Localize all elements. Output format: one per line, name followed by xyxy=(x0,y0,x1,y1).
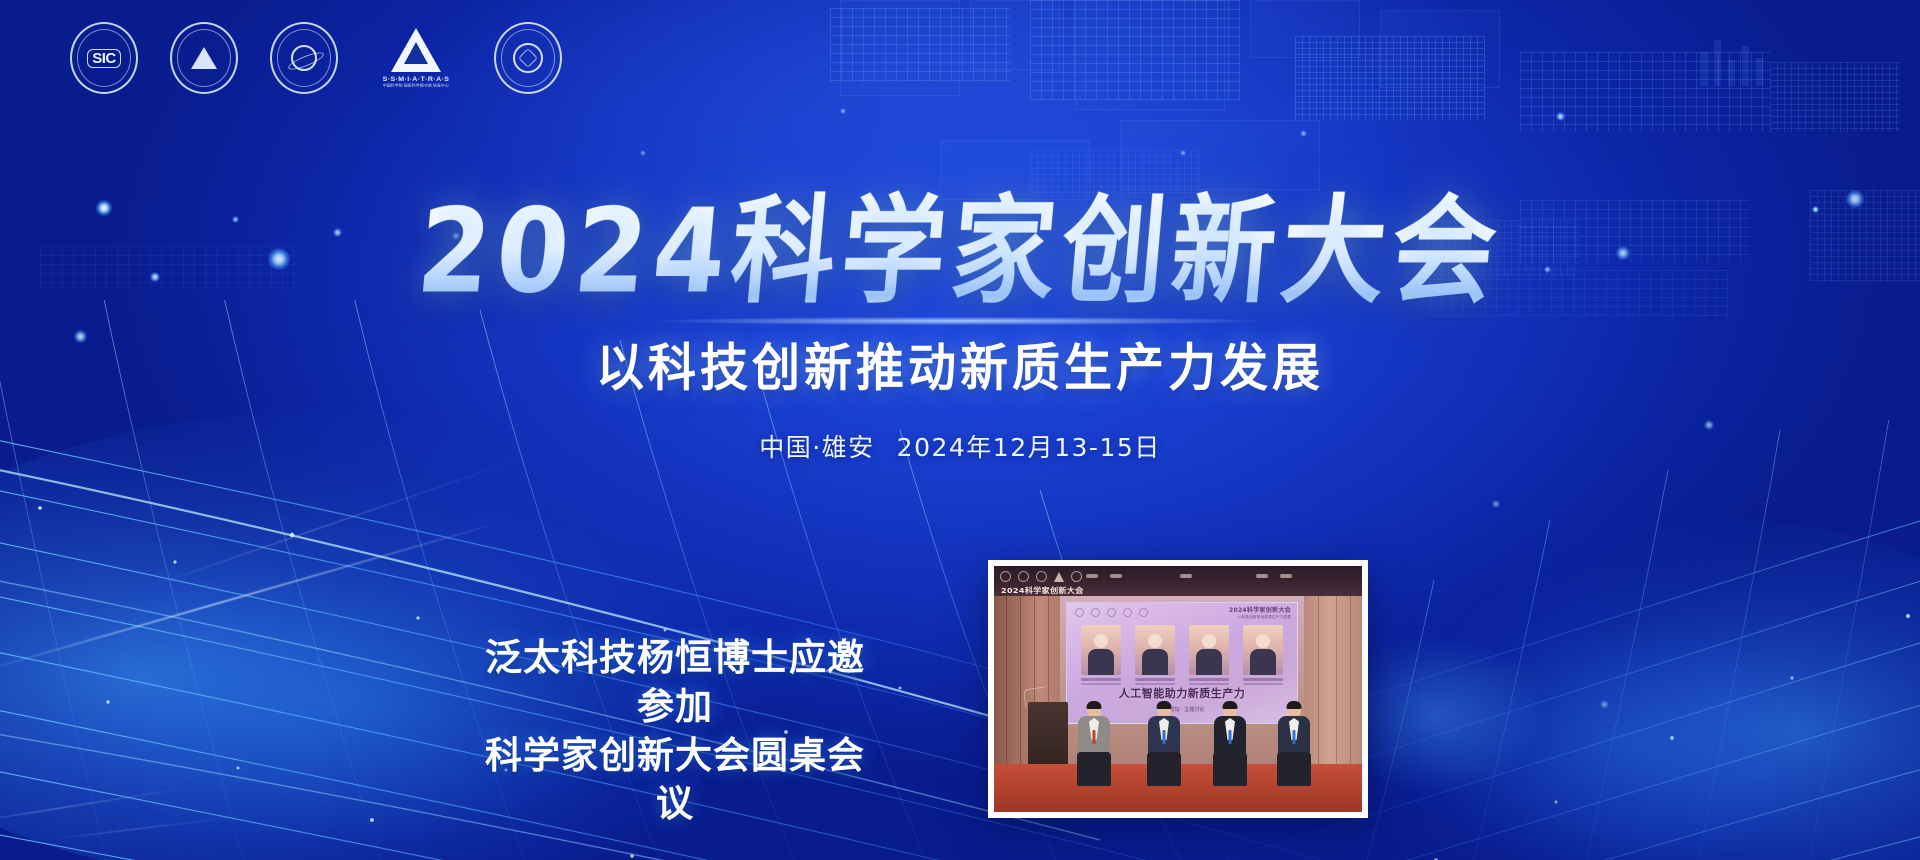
panelist-hair xyxy=(1157,701,1172,709)
event-photo-frame: 2024科学家创新大会 xyxy=(988,560,1368,818)
screen-title-main: 2024科学家创新大会 xyxy=(1229,607,1291,614)
seal-ring xyxy=(494,22,562,94)
panelist-portrait xyxy=(1135,625,1175,685)
event-caption: 泛太科技杨恒博士应邀参加 科学家创新大会圆桌会议 xyxy=(470,634,880,829)
photo-ceiling-light xyxy=(1110,574,1122,578)
portrait-name-bar xyxy=(1081,678,1121,681)
atom-seal-logo xyxy=(268,22,340,94)
seal-ring xyxy=(170,22,238,94)
panelist-badge xyxy=(1093,730,1096,744)
seal-core-text: SIC xyxy=(87,49,121,68)
triangle-logo-caption: S·S·M·I·A·T·R·A·S 中国科学院 国家科学图书馆 信息中心 xyxy=(383,76,450,88)
photo-panelist xyxy=(1272,702,1316,786)
seal-ring xyxy=(270,22,338,94)
triangle-institute-logo: S·S·M·I·A·T·R·A·S 中国科学院 国家科学图书馆 信息中心 xyxy=(368,22,464,94)
light-streak-4 xyxy=(41,816,240,841)
screen-logo-icon xyxy=(1139,608,1148,617)
ring-icon xyxy=(513,43,543,73)
panelist-portrait xyxy=(1243,625,1283,685)
background-dot-grid-3 xyxy=(1295,36,1485,120)
sparkle-particle xyxy=(1556,112,1565,121)
sparkle-particle xyxy=(840,108,846,114)
light-streak-1 xyxy=(0,519,509,675)
screen-panelist-portraits xyxy=(1067,625,1297,685)
portrait-name-bar xyxy=(1243,678,1283,681)
event-caption-line-2: 科学家创新大会圆桌会议 xyxy=(470,732,880,830)
panelist-legs xyxy=(1077,752,1111,786)
stage-logo-icon xyxy=(1000,571,1011,582)
light-streak-3 xyxy=(0,786,198,828)
background-dot-grid-4 xyxy=(1520,52,1770,132)
stage-logo-icon xyxy=(1018,571,1029,582)
conference-banner: SIC S·S·M·I·A·T·R·A·S 中国科学院 国家科学图书馆 信息中心 xyxy=(0,0,1920,860)
sparkle-particle xyxy=(1300,130,1307,137)
portrait-image xyxy=(1081,625,1121,675)
portrait-name-bar xyxy=(1189,678,1229,681)
screen-title-sub: 以科技创新推动新质生产力发展 xyxy=(1229,615,1291,619)
sparkle-particle xyxy=(1600,700,1609,709)
panelist-legs xyxy=(1147,752,1181,786)
light-streak-2 xyxy=(131,456,528,594)
sponsor-logo-row: SIC S·S·M·I·A·T·R·A·S 中国科学院 国家科学图书馆 信息中心 xyxy=(68,22,564,94)
seal-ring: SIC xyxy=(70,22,138,94)
sparkle-particle xyxy=(1492,500,1500,508)
screen-topic: 人工智能助力新质生产力 xyxy=(1067,685,1297,701)
page-subtitle: 以科技创新推动新质生产力发展 xyxy=(0,326,1920,400)
photo-ceiling-light xyxy=(1280,574,1292,578)
screen-logo-icon xyxy=(1107,608,1116,617)
event-date: 2024年12月13-15日 xyxy=(897,433,1161,462)
event-photo: 2024科学家创新大会 xyxy=(994,566,1362,812)
photo-panelist xyxy=(1208,702,1252,786)
screen-logo-icon xyxy=(1075,608,1084,617)
triangle-mark-icon xyxy=(391,28,441,72)
background-city-highlight xyxy=(1700,40,1920,200)
triangle-logo-caption-main: S·S·M·I·A·T·R·A·S xyxy=(383,76,450,82)
triangle-icon xyxy=(191,47,217,69)
portrait-image xyxy=(1135,625,1175,675)
sparkle-particle xyxy=(1180,150,1186,156)
photo-ceiling-light xyxy=(1086,574,1098,578)
portrait-image xyxy=(1243,625,1283,675)
background-dot-grid-5 xyxy=(1770,62,1900,132)
title-block: 2024科学家创新大会 以科技创新推动新质生产力发展 中国·雄安2024年12月… xyxy=(0,196,1920,464)
screen-logo-icon xyxy=(1091,608,1100,617)
atom-icon xyxy=(291,45,317,71)
ring-seal-logo xyxy=(492,22,564,94)
photo-panelist xyxy=(1142,702,1186,786)
stage-logo-icon xyxy=(1036,571,1047,582)
panelist-portrait xyxy=(1081,625,1121,685)
portrait-name-bar xyxy=(1135,678,1175,681)
sparkle-particle xyxy=(640,150,646,156)
screen-logo-row xyxy=(1075,608,1148,617)
background-dot-grid-2 xyxy=(1030,0,1240,100)
panelist-hair xyxy=(1087,701,1102,709)
page-title: 2024科学家创新大会 xyxy=(0,189,1920,312)
event-location-date: 中国·雄安2024年12月13-15日 xyxy=(0,428,1920,464)
stage-triangle-icon xyxy=(1054,572,1064,582)
panelist-hair xyxy=(1223,701,1238,709)
triangle-logo-caption-sub: 中国科学院 国家科学图书馆 信息中心 xyxy=(383,82,450,87)
photo-stage-logo-strip xyxy=(1000,571,1082,582)
panelist-legs xyxy=(1277,752,1311,786)
panelist-legs xyxy=(1213,752,1247,786)
photo-panelist xyxy=(1072,702,1116,786)
photo-stage-banner-text: 2024科学家创新大会 xyxy=(1001,585,1084,595)
event-caption-line-1: 泛太科技杨恒博士应邀参加 xyxy=(485,636,865,728)
panelist-badge xyxy=(1163,730,1166,744)
panelist-hair xyxy=(1287,701,1302,709)
event-location: 中国·雄安 xyxy=(759,433,874,462)
photo-edge-glow xyxy=(1340,600,1660,830)
triangle-seal-logo xyxy=(168,22,240,94)
panelist-badge xyxy=(1229,730,1232,744)
stage-logo-icon xyxy=(1071,571,1082,582)
panelist-portrait xyxy=(1189,625,1229,685)
panelist-badge xyxy=(1293,730,1296,744)
screen-title: 2024科学家创新大会 以科技创新推动新质生产力发展 xyxy=(1229,607,1291,619)
background-dot-grid-1 xyxy=(830,8,1010,82)
screen-logo-icon xyxy=(1123,608,1132,617)
sic-seal-logo: SIC xyxy=(68,22,140,94)
portrait-image xyxy=(1189,625,1229,675)
photo-ceiling-light xyxy=(1180,574,1192,578)
photo-ceiling-light xyxy=(1256,574,1268,578)
